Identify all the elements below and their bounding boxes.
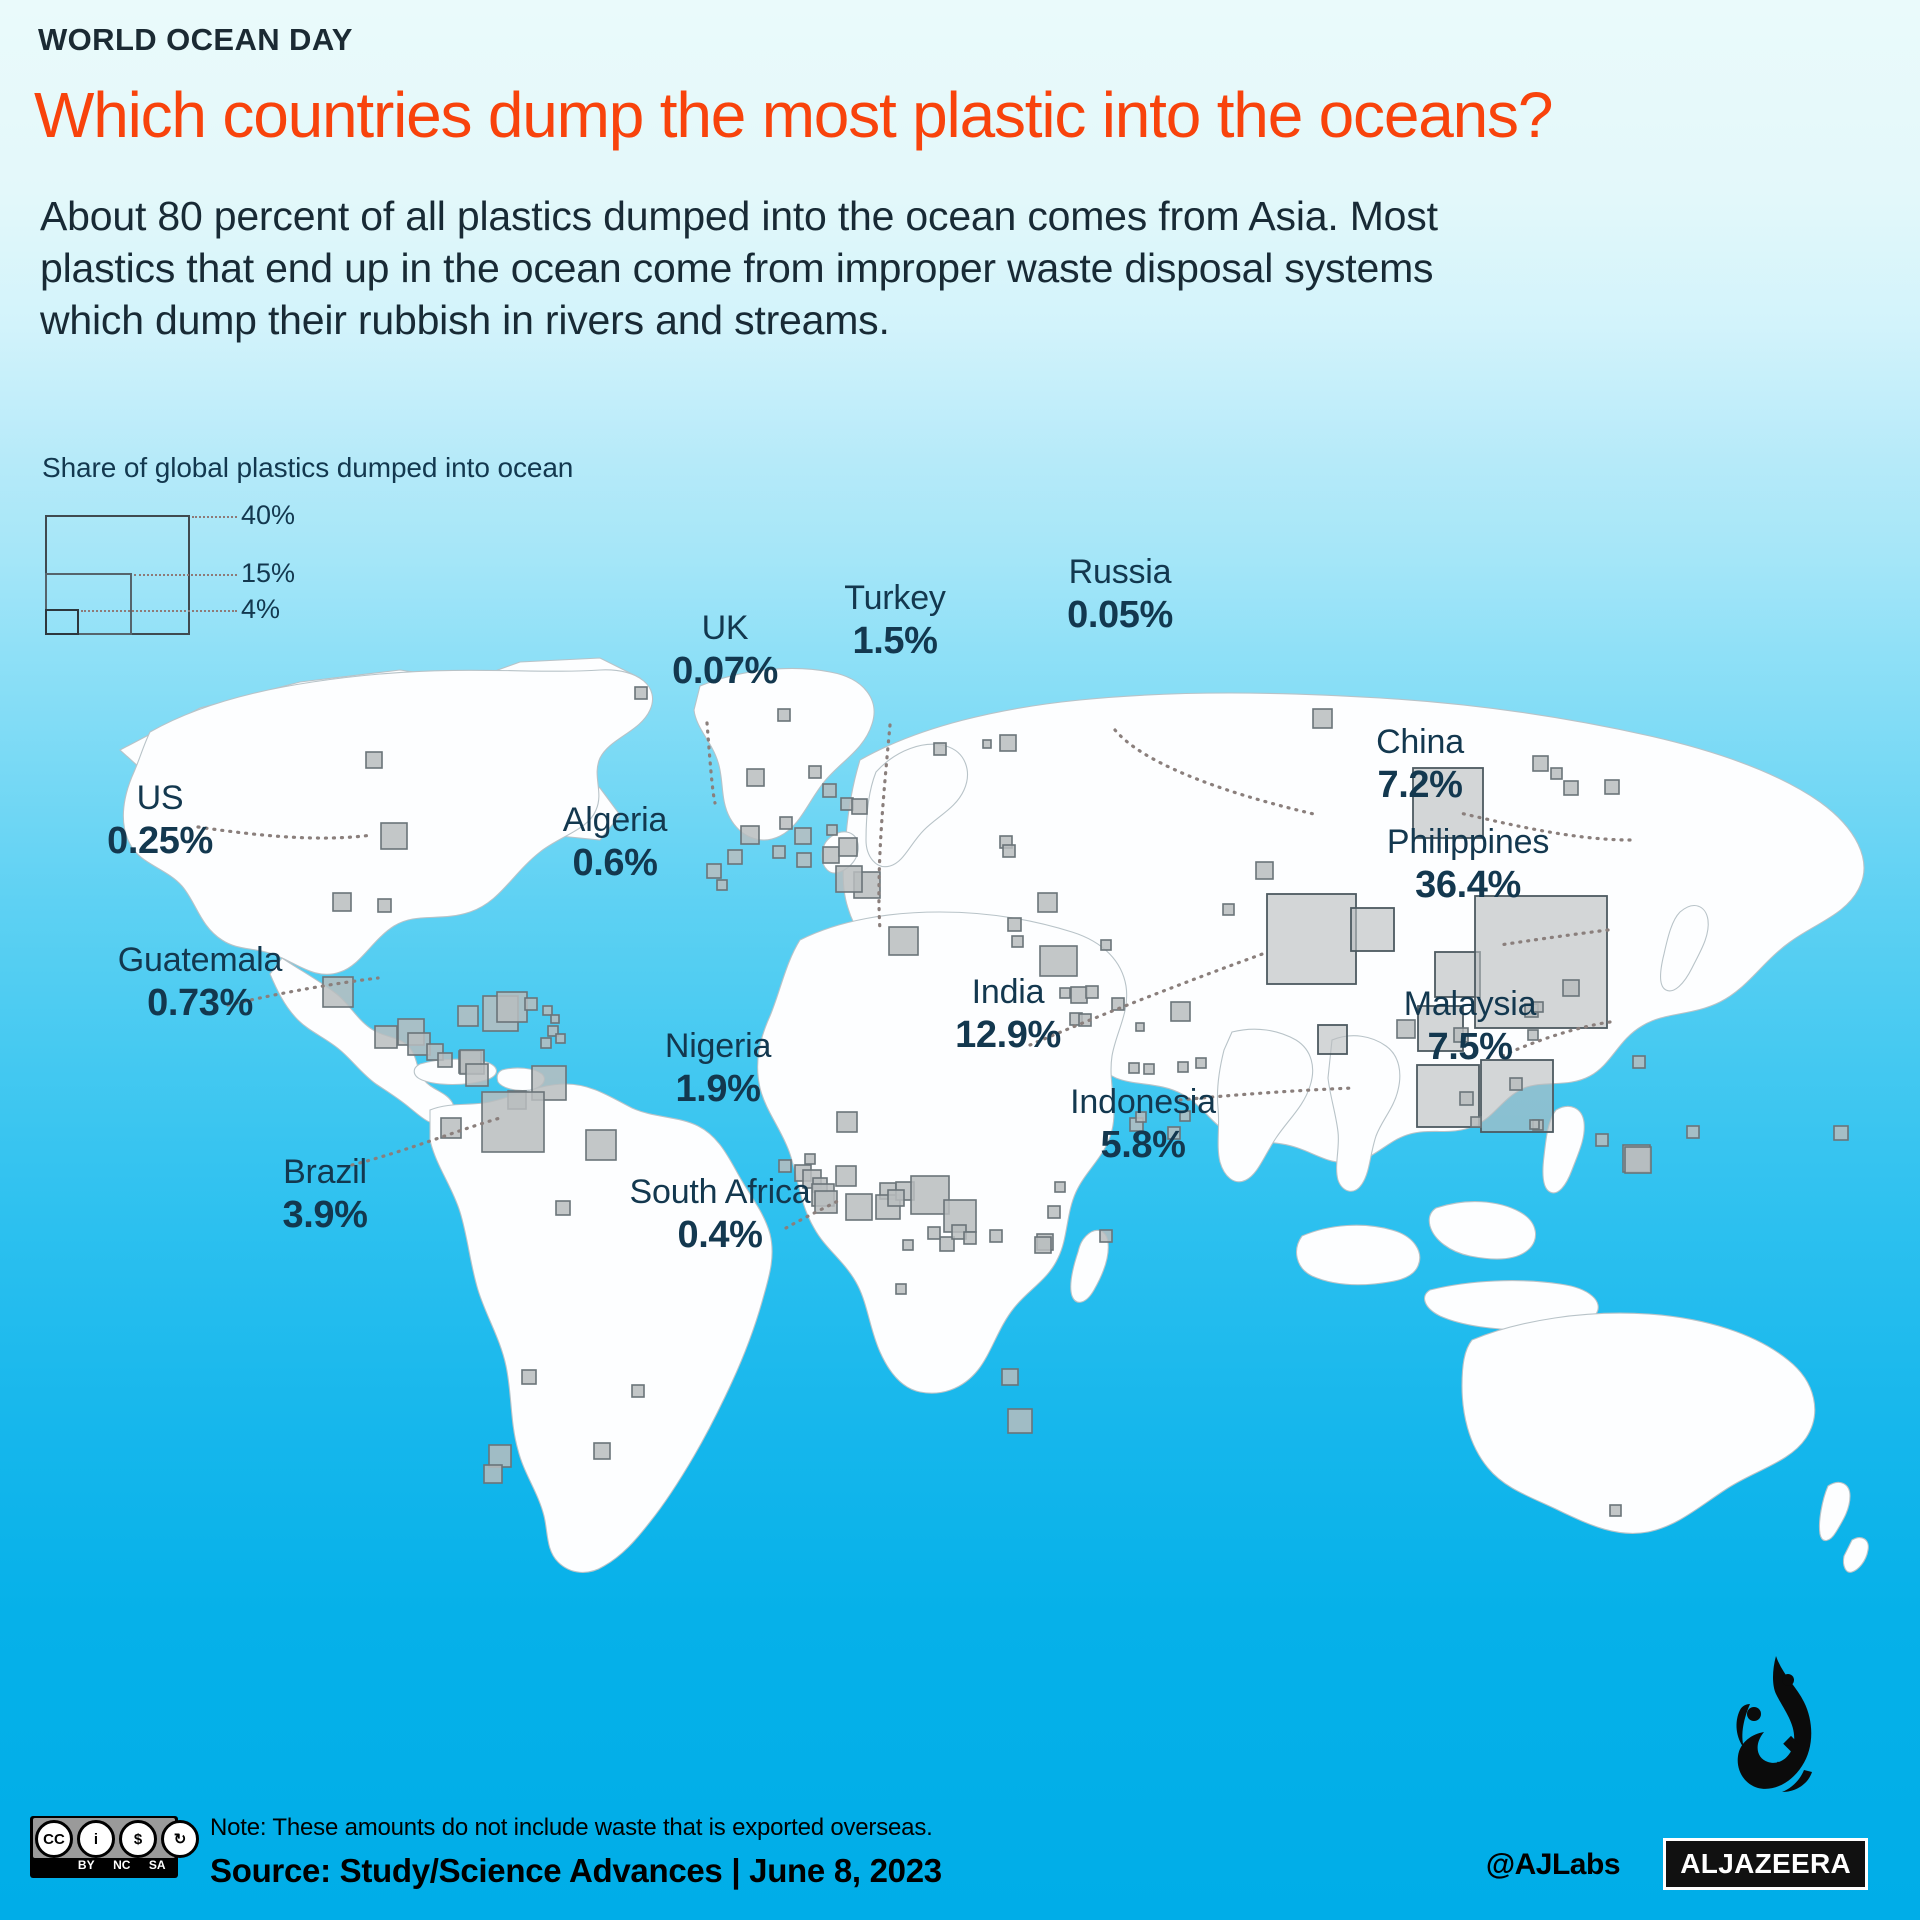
callout-turkey-value: 1.5% — [800, 618, 990, 664]
callout-india-value: 12.9% — [918, 1012, 1098, 1058]
callout-guatemala-name: Guatemala — [60, 940, 340, 980]
callout-indonesia-name: Indonesia — [1008, 1082, 1278, 1122]
cc-labels: BY NC SA — [35, 1856, 173, 1874]
callout-brazil-value: 3.9% — [230, 1192, 420, 1238]
legend-square-4 — [45, 609, 79, 635]
kicker: WORLD OCEAN DAY — [38, 22, 353, 58]
square-algeria — [889, 927, 918, 955]
callout-russia-value: 0.05% — [1010, 592, 1230, 638]
callout-us-value: 0.25% — [70, 818, 250, 864]
callout-philippines-name: Philippines — [1318, 822, 1618, 862]
callout-philippines: Philippines 36.4% — [1318, 822, 1618, 908]
aljazeera-wordmark: ALJAZEERA — [1663, 1838, 1868, 1890]
legend: 40% 15% 4% — [45, 515, 345, 635]
square-bangladesh — [1351, 908, 1394, 951]
creative-commons-badge: CC i $ ↻ BY NC SA — [30, 1816, 178, 1878]
callout-nigeria-value: 1.9% — [608, 1066, 828, 1112]
callout-uk: UK 0.07% — [640, 608, 810, 694]
callout-malaysia-value: 7.5% — [1340, 1024, 1600, 1070]
callout-uk-value: 0.07% — [640, 648, 810, 694]
cc-icons: CC i $ ↻ — [35, 1820, 199, 1858]
callout-china-value: 7.2% — [1320, 762, 1520, 808]
world-map: .land{fill:#fdfeff;stroke:#b8c3c8;stroke… — [0, 640, 1920, 1640]
footnote: Note: These amounts do not include waste… — [210, 1814, 933, 1842]
cc-by-label: BY — [71, 1858, 103, 1872]
source-line: Source: Study/Science Advances | June 8,… — [210, 1852, 942, 1890]
callout-china-name: China — [1320, 722, 1520, 762]
callout-south-africa: South Africa 0.4% — [560, 1172, 880, 1258]
callout-indonesia: Indonesia 5.8% — [1008, 1082, 1278, 1168]
callout-malaysia-name: Malaysia — [1340, 984, 1600, 1024]
landmasses — [120, 658, 1868, 1572]
page-title: Which countries dump the most plastic in… — [34, 78, 1552, 152]
cc-nc-label: NC — [106, 1858, 138, 1872]
callout-indonesia-value: 5.8% — [1008, 1122, 1278, 1168]
callout-brazil: Brazil 3.9% — [230, 1152, 420, 1238]
callout-south-africa-name: South Africa — [560, 1172, 880, 1212]
callout-philippines-value: 36.4% — [1318, 862, 1618, 908]
legend-leader-4 — [81, 610, 237, 612]
cc-sa-icon: ↻ — [161, 1820, 199, 1858]
legend-title: Share of global plastics dumped into oce… — [42, 452, 573, 484]
callout-algeria: Algeria 0.6% — [500, 800, 730, 886]
legend-label-40: 40% — [241, 500, 295, 531]
callout-turkey: Turkey 1.5% — [800, 578, 990, 664]
callout-china: China 7.2% — [1320, 722, 1520, 808]
callout-india-name: India — [918, 972, 1098, 1012]
square-brazil — [482, 1092, 544, 1152]
callout-south-africa-value: 0.4% — [560, 1212, 880, 1258]
callout-guatemala: Guatemala 0.73% — [60, 940, 340, 1026]
aljazeera-logo-icon — [1710, 1652, 1840, 1812]
square-south-africa — [1008, 1409, 1032, 1433]
callout-russia-name: Russia — [1010, 552, 1230, 592]
callout-us: US 0.25% — [70, 778, 250, 864]
callout-india: India 12.9% — [918, 972, 1098, 1058]
cc-sa-label: SA — [142, 1858, 174, 1872]
footer: CC i $ ↻ BY NC SA Note: These amounts do… — [0, 1750, 1920, 1920]
legend-leader-40 — [192, 516, 237, 518]
legend-label-15: 15% — [241, 558, 295, 589]
callout-us-name: US — [70, 778, 250, 818]
legend-leader-15 — [134, 574, 237, 576]
callout-russia: Russia 0.05% — [1010, 552, 1230, 638]
callout-brazil-name: Brazil — [230, 1152, 420, 1192]
cc-icon: CC — [35, 1820, 73, 1858]
callout-turkey-name: Turkey — [800, 578, 990, 618]
callout-malaysia: Malaysia 7.5% — [1340, 984, 1600, 1070]
infographic-root: WORLD OCEAN DAY Which countries dump the… — [0, 0, 1920, 1920]
ajlabs-handle: @AJLabs — [1486, 1848, 1620, 1882]
callout-nigeria-name: Nigeria — [608, 1026, 828, 1066]
standfirst: About 80 percent of all plastics dumped … — [40, 190, 1540, 346]
callout-algeria-name: Algeria — [500, 800, 730, 840]
callout-guatemala-value: 0.73% — [60, 980, 340, 1026]
cc-by-icon: i — [77, 1820, 115, 1858]
callout-algeria-value: 0.6% — [500, 840, 730, 886]
cc-nc-icon: $ — [119, 1820, 157, 1858]
legend-label-4: 4% — [241, 594, 280, 625]
callout-uk-name: UK — [640, 608, 810, 648]
callout-nigeria: Nigeria 1.9% — [608, 1026, 828, 1112]
